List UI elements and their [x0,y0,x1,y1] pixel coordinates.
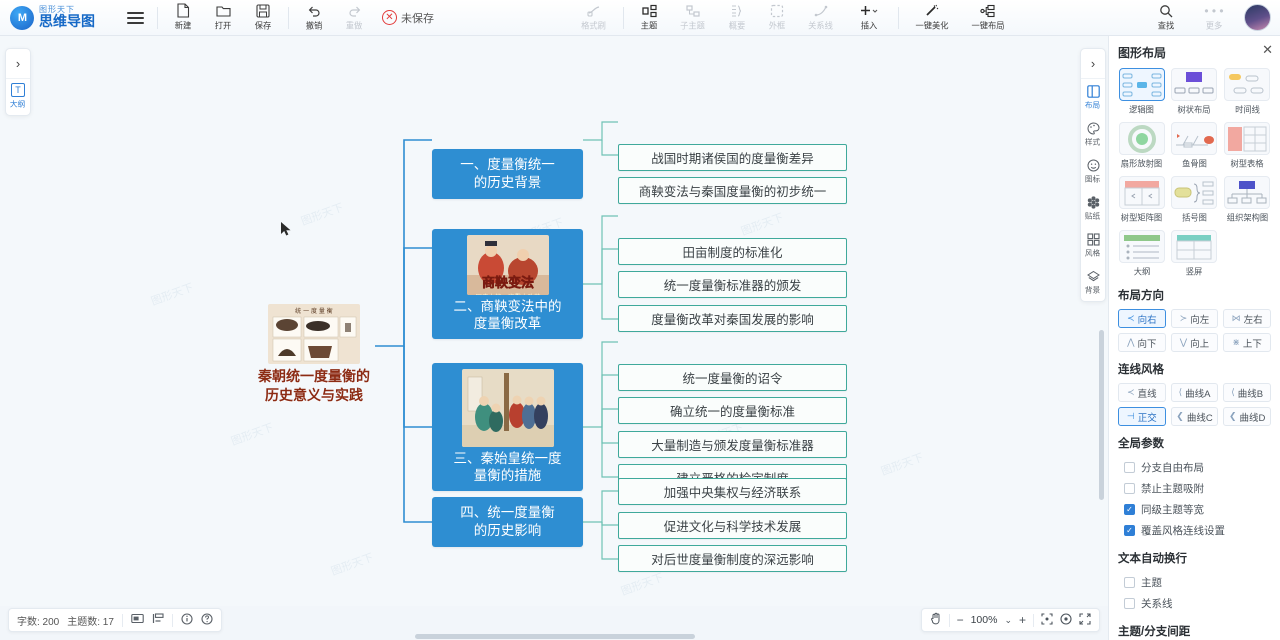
layout-thumb [1119,68,1165,101]
more-label: 更多 [1206,20,1223,32]
direction-glyph-icon: ≺ [1127,313,1135,324]
direction-glyph-icon: ⋀ [1127,337,1134,348]
checkbox-row-override-line[interactable]: ✓ 覆盖风格连线设置 [1118,520,1271,541]
right-icon-rail: › 布局 样式 图标 贴纸 风格 背景 [1080,48,1106,302]
topic-button[interactable]: 主题 [629,0,669,36]
smiley-icon [1087,158,1100,172]
undo-icon [307,3,322,18]
layout-thumbnail-grid: 逻辑图 树状布局 时间线 扇形放射图 鱼骨图 [1118,68,1271,278]
close-icon[interactable]: ✕ [1262,43,1273,56]
direction-option-left[interactable]: ≻向左 [1171,309,1219,328]
checkbox-icon: ✓ [1124,525,1135,536]
rail-label-layout: 布局 [1085,100,1100,111]
brand-title: 思维导图 [39,14,95,29]
watermark: 图形天下 [739,209,786,239]
avatar[interactable] [1244,4,1271,31]
open-button[interactable]: 打开 [203,0,243,36]
line-glyph-icon: ❮ [1229,411,1237,422]
info-icon[interactable] [181,613,193,628]
hand-icon[interactable] [930,612,942,628]
mouse-cursor [280,221,292,237]
topic-count: 主题数: 17 [67,613,114,628]
direction-option-down[interactable]: ⋀向下 [1118,333,1166,352]
new-button-label: 新建 [175,20,192,32]
leaf-node[interactable]: 商鞅变法与秦国度量衡的初步统一 [618,177,847,204]
linestyle-option-orthogonal[interactable]: ⊣正交 [1118,407,1166,426]
watermark: 图形天下 [149,279,196,309]
branch-node-4-line1: 四、统一度量衡 [460,504,555,522]
rail-item-icon[interactable]: 图标 [1081,153,1105,190]
checkbox-row-no-snap[interactable]: 禁止主题吸附 [1118,478,1271,499]
rail-label-style: 样式 [1085,137,1100,148]
layers-icon [1087,269,1100,283]
layout-label: 组织架构图 [1226,212,1267,224]
search-button[interactable]: 查找 [1142,0,1190,36]
branch-node-1[interactable]: 一、度量衡统一 的历史背景 [432,149,583,199]
watermark: 图形天下 [879,449,926,479]
outline-button[interactable]: T 大纲 [6,79,30,115]
divider [288,7,289,29]
subtopic-label: 子主题 [681,20,706,32]
topic-icon [642,3,657,18]
branch-node-4-line2: 的历史影响 [474,522,542,540]
watermark: 图形天下 [299,199,346,229]
more-dots-icon: • • • [1204,3,1223,18]
layout-thumb [1224,122,1270,155]
center-icon[interactable] [1060,613,1072,628]
root-node-image: 统 一 度 量 衡 [268,304,360,364]
redo-button[interactable]: 重做 [334,0,374,36]
subtopic-button[interactable]: 子主题 [669,0,717,36]
divider [157,7,158,29]
layout-thumb [1119,176,1165,209]
direction-chips: ≺向右 ≻向左 ⋈左右 ⋀向下 ⋁向上 ⋇上下 [1118,309,1271,352]
zoom-percent[interactable]: 100% [971,614,998,626]
top-toolbar: M 图形天下 思维导图 新建 打开 保存 撤销 重做 [0,0,1280,36]
layout-icon [1087,84,1100,98]
layout-label: 树型矩阵图 [1121,212,1162,224]
layout-label: 逻辑图 [1129,104,1154,116]
rail-item-style-grid[interactable]: 风格 [1081,227,1105,264]
layout-option-logic[interactable]: 逻辑图 [1118,68,1166,116]
layout-label: 鱼骨图 [1182,158,1207,170]
layout-label: 树状布局 [1178,104,1211,116]
branch-node-3-image [462,369,554,447]
canvas-horizontal-scrollbar[interactable] [415,634,695,639]
help-icon[interactable] [201,613,213,628]
checkbox-icon [1124,483,1135,494]
layout-option-org-chart[interactable]: 组织架构图 [1223,176,1271,224]
layout-label: 树型表格 [1231,158,1264,170]
new-button[interactable]: 新建 [163,0,203,36]
auto-layout-button[interactable]: 一键布局 [960,0,1016,36]
frame-button[interactable]: 外框 [757,0,797,36]
divider [949,614,950,627]
line-glyph-icon: ⊣ [1127,411,1135,422]
rail-label-background: 背景 [1085,285,1100,296]
style-grid-icon [1087,232,1100,246]
root-node-text: 秦朝统一度量衡的 历史意义与实践 [258,367,370,405]
fullscreen-icon[interactable] [1079,613,1091,628]
svg-text:统 一 度 量 衡: 统 一 度 量 衡 [295,307,333,315]
new-file-icon [176,3,190,18]
zoom-bar: − 100% ⌄ + [921,608,1100,632]
divider [1033,614,1034,627]
leaf-node[interactable]: 战国时期诸侯国的度量衡差异 [618,144,847,171]
status-bar: 字数: 200 主题数: 17 [8,608,222,632]
branch-node-3[interactable]: 三、秦始皇统一度 量衡的措施 [432,363,583,491]
subtopic-icon [686,3,701,18]
checkbox-icon [1124,598,1135,609]
watermark: 图形天下 [329,549,376,579]
branch-node-2-line1: 二、商鞅变法中的 [454,298,562,316]
layout-thumb [1224,68,1270,101]
rail-item-background[interactable]: 背景 [1081,264,1105,301]
beautify-label: 一键美化 [915,20,948,32]
logo-icon: M [10,6,34,30]
summary-button[interactable]: 概要 [717,0,757,36]
layout-thumb [1224,176,1270,209]
rail-label-sticker: 贴纸 [1085,211,1100,222]
divider [623,7,624,29]
branch-node-1-line1: 一、度量衡统一 [460,156,555,174]
layout-option-bracket[interactable]: 括号图 [1171,176,1219,224]
more-button[interactable]: • • • 更多 [1190,0,1238,36]
palette-icon [1087,121,1100,135]
svg-text:历史上的一次重大改革: 历史上的一次重大改革 [475,292,541,295]
open-folder-icon [216,3,231,18]
checkbox-row-equal-width[interactable]: ✓ 同级主题等宽 [1118,499,1271,520]
flowchart-icon[interactable] [152,613,164,627]
direction-option-right[interactable]: ≺向右 [1118,309,1166,328]
expand-left-panel-icon[interactable]: › [6,49,30,79]
relation-label: 关系线 [809,20,834,32]
open-button-label: 打开 [215,20,232,32]
rail-label-style-grid: 风格 [1085,248,1100,259]
layout-option-fishbone[interactable]: 鱼骨图 [1171,122,1219,170]
checkbox-row-wrap-topic[interactable]: 主题 [1118,572,1271,593]
linestyle-option-curve-d[interactable]: ❮曲线D [1223,407,1271,426]
leaf-node[interactable]: 加强中央集权与经济联系 [618,478,847,505]
direction-glyph-icon: ⋁ [1180,337,1187,348]
linestyle-option-curve-a[interactable]: ⟨曲线A [1171,383,1219,402]
line-glyph-icon: ⟨ [1179,387,1183,398]
checkbox-icon [1124,577,1135,588]
branch-node-3-line2: 量衡的措施 [474,467,542,485]
frame-label: 外框 [769,20,786,32]
branch-node-2[interactable]: 商鞅变法 历史上的一次重大改革 二、商鞅变法中的 度量衡改革 [432,229,583,339]
search-icon [1159,3,1173,18]
line-glyph-icon: ❮ [1176,411,1184,422]
insert-label: 插入 [861,20,878,32]
layout-option-timeline[interactable]: 时间线 [1223,68,1271,116]
divider [172,614,173,627]
summary-icon [730,3,745,18]
branch-node-4[interactable]: 四、统一度量衡 的历史影响 [432,497,583,547]
undo-button-label: 撤销 [306,20,323,32]
svg-text:商鞅变法: 商鞅变法 [481,275,533,291]
layout-settings-panel: ✕ 图形布局 逻辑图 树状布局 时间线 扇形放射图 [1108,36,1280,640]
layout-option-portrait[interactable]: 竖屏 [1171,230,1219,278]
layout-thumb [1171,122,1217,155]
leaf-node[interactable]: 统一度量衡标准器的颁发 [618,271,847,298]
mindmap-canvas[interactable]: 图形天下 图形天下 图形天下 图形天下 图形天下 图形天下 图形天下 图形天下 … [0,36,1108,606]
linestyle-option-curve-b[interactable]: ⟨曲线B [1223,383,1271,402]
layout-thumb [1171,176,1217,209]
watermark: 图形天下 [229,419,276,449]
redo-button-label: 重做 [346,20,363,32]
relation-button[interactable]: 关系线 [797,0,845,36]
save-button-label: 保存 [255,20,272,32]
rail-item-style[interactable]: 样式 [1081,116,1105,153]
leaf-node[interactable]: 田亩制度的标准化 [618,238,847,265]
layout-label: 时间线 [1235,104,1260,116]
linestyle-section-title: 连线风格 [1118,361,1271,377]
layout-label: 大纲 [1134,266,1151,278]
leaf-node[interactable]: 大量制造与颁发度量衡标准器 [618,431,847,458]
format-brush-button[interactable]: 格式刷 [570,0,618,36]
zoom-in-button[interactable]: + [1019,613,1026,627]
layout-thumb [1119,230,1165,263]
zoom-out-button[interactable]: − [957,613,964,627]
unsaved-status[interactable]: ✕ 未保存 [374,10,442,26]
layout-label: 竖屏 [1186,266,1203,278]
auto-layout-icon [980,3,996,18]
root-node[interactable]: 统 一 度 量 衡 秦朝统一度量衡的 历史意义与实践 [253,304,375,405]
chevron-down-icon[interactable]: ⌄ [1004,615,1012,626]
linestyle-option-straight[interactable]: ≺直线 [1118,383,1166,402]
layout-option-outline[interactable]: 大纲 [1118,230,1166,278]
unsaved-label: 未保存 [401,10,434,26]
relation-line-icon [814,3,829,18]
layout-label: 扇形放射图 [1121,158,1162,170]
direction-option-up[interactable]: ⋁向上 [1171,333,1219,352]
divider [898,7,899,29]
format-brush-label: 格式刷 [582,20,607,32]
layout-thumb [1171,230,1217,263]
layout-thumb [1171,68,1217,101]
insert-plus-icon [859,3,879,18]
leaf-node[interactable]: 统一度量衡的诏令 [618,364,847,391]
topic-label: 主题 [641,20,658,32]
line-glyph-icon: ≺ [1127,387,1135,398]
undo-button[interactable]: 撤销 [294,0,334,36]
linestyle-option-curve-c[interactable]: ❮曲线C [1171,407,1219,426]
menu-hamburger-icon[interactable] [118,0,152,36]
checkbox-row-free-branch[interactable]: 分支自由布局 [1118,457,1271,478]
leaf-node[interactable]: 对后世度量衡制度的深远影响 [618,545,847,572]
presentation-icon[interactable] [131,613,144,627]
search-label: 查找 [1158,20,1175,32]
layout-option-radial[interactable]: 扇形放射图 [1118,122,1166,170]
global-section-title: 全局参数 [1118,435,1271,451]
collapse-panel-icon[interactable]: › [1081,49,1105,79]
rail-item-layout[interactable]: 布局 [1081,79,1105,116]
direction-glyph-icon: ≻ [1180,313,1188,324]
linestyle-chips: ≺直线 ⟨曲线A ⟨曲线B ⊣正交 ❮曲线C ❮曲线D [1118,383,1271,426]
watermark: 图形天下 [619,569,666,599]
branch-node-1-line2: 的历史背景 [474,174,542,192]
direction-section-title: 布局方向 [1118,287,1271,303]
unsaved-icon: ✕ [382,10,397,25]
leaf-node[interactable]: 确立统一的度量衡标准 [618,397,847,424]
redo-icon [347,3,362,18]
auto-layout-label: 一键布局 [971,20,1004,32]
branch-node-2-line2: 度量衡改革 [474,315,542,333]
layout-thumb [1119,122,1165,155]
divider [122,614,123,627]
outline-label: 大纲 [10,99,25,110]
wrap-section-title: 文本自动换行 [1118,550,1271,566]
insert-button[interactable]: 插入 [845,0,893,36]
magic-beautify-icon [924,3,940,18]
save-disk-icon [256,3,270,18]
leaf-node[interactable]: 度量衡改革对秦国发展的影响 [618,305,847,332]
leaf-node[interactable]: 促进文化与科学技术发展 [618,512,847,539]
left-side-panel: › T 大纲 [5,48,31,116]
checkbox-icon: ✓ [1124,504,1135,515]
format-brush-icon [587,3,602,18]
summary-label: 概要 [729,20,746,32]
spacing-section-title: 主题/分支间距 [1118,623,1271,639]
outline-frame-icon [770,3,784,18]
layout-label: 括号图 [1182,212,1207,224]
layout-option-tree-matrix[interactable]: 树型矩阵图 [1118,176,1166,224]
branch-node-3-line1: 三、秦始皇统一度 [454,450,562,468]
word-count: 字数: 200 [17,613,59,628]
fit-screen-icon[interactable] [1041,613,1053,628]
app-logo[interactable]: M 图形天下 思维导图 [0,6,118,30]
direction-glyph-icon: ⋇ [1232,337,1240,348]
layout-option-tree-table[interactable]: 树型表格 [1223,122,1271,170]
beautify-button[interactable]: 一键美化 [904,0,960,36]
canvas-vertical-scrollbar[interactable] [1099,330,1104,500]
rail-label-icon: 图标 [1085,174,1100,185]
direction-option-vertical[interactable]: ⋇上下 [1223,333,1271,352]
layout-option-tree[interactable]: 树状布局 [1171,68,1219,116]
direction-option-horizontal[interactable]: ⋈左右 [1223,309,1271,328]
branch-node-2-image: 商鞅变法 历史上的一次重大改革 [467,235,549,295]
checkbox-icon [1124,462,1135,473]
panel-title: 图形布局 [1118,44,1271,61]
outline-text-icon: T [11,83,25,97]
rail-item-sticker[interactable]: 贴纸 [1081,190,1105,227]
direction-glyph-icon: ⋈ [1232,313,1241,324]
checkbox-row-wrap-relation[interactable]: 关系线 [1118,593,1271,614]
line-glyph-icon: ⟨ [1231,387,1235,398]
sticker-icon [1087,195,1100,209]
save-button[interactable]: 保存 [243,0,283,36]
